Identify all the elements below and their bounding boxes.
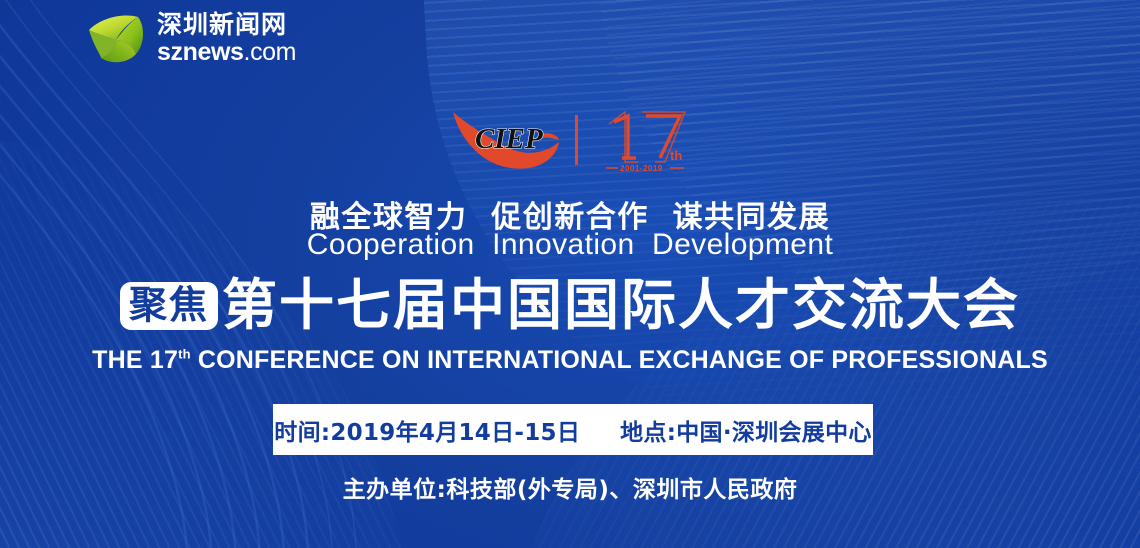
green-leaf-icon [88,13,146,65]
sznews-cn-text: 深圳新闻网 [157,12,296,37]
edition-years: 2001-2019 [620,164,663,173]
focus-badge: 聚焦 [120,282,218,330]
headline-english: THE 17th CONFERENCE ON INTERNATIONAL EXC… [0,346,1140,375]
headline-en-rest: CONFERENCE ON INTERNATIONAL EXCHANGE OF … [191,346,1048,374]
headline-en-prefix: THE 17 [92,346,178,374]
event-place: 地点:中国·深圳会展中心 [620,413,872,447]
ciep-wordmark: CIEP [475,123,543,155]
organizer-line: 主办单位:科技部(外专局)、深圳市人民政府 [0,470,1140,504]
conference-banner: 深圳新闻网 sznews.com CIEP th 2001-2019 融全球智力 [0,0,1140,548]
sznews-en-suffix: .com [244,38,297,66]
edition-suffix: th [670,148,682,163]
slogan-english: Cooperation Innovation Development [0,228,1140,262]
ciep-logo-icon: CIEP [449,106,561,174]
headline-row: 聚焦 第十七届中国国际人才交流大会 [0,278,1140,333]
ciep-emblem: CIEP th 2001-2019 [0,104,1140,176]
sznews-logo[interactable]: 深圳新闻网 sznews.com [88,12,296,65]
emblem-divider [575,115,578,165]
sznews-en-main: sznews [157,38,244,66]
17th-edition-icon: th 2001-2019 [592,106,692,174]
event-time: 时间:2019年4月14日-15日 [274,413,580,447]
sznews-en-text: sznews.com [157,40,296,65]
page-title: 第十七届中国国际人才交流大会 [222,278,1020,333]
headline-en-ordinal: th [178,347,191,362]
event-info-box: 时间:2019年4月14日-15日 地点:中国·深圳会展中心 [273,404,873,455]
